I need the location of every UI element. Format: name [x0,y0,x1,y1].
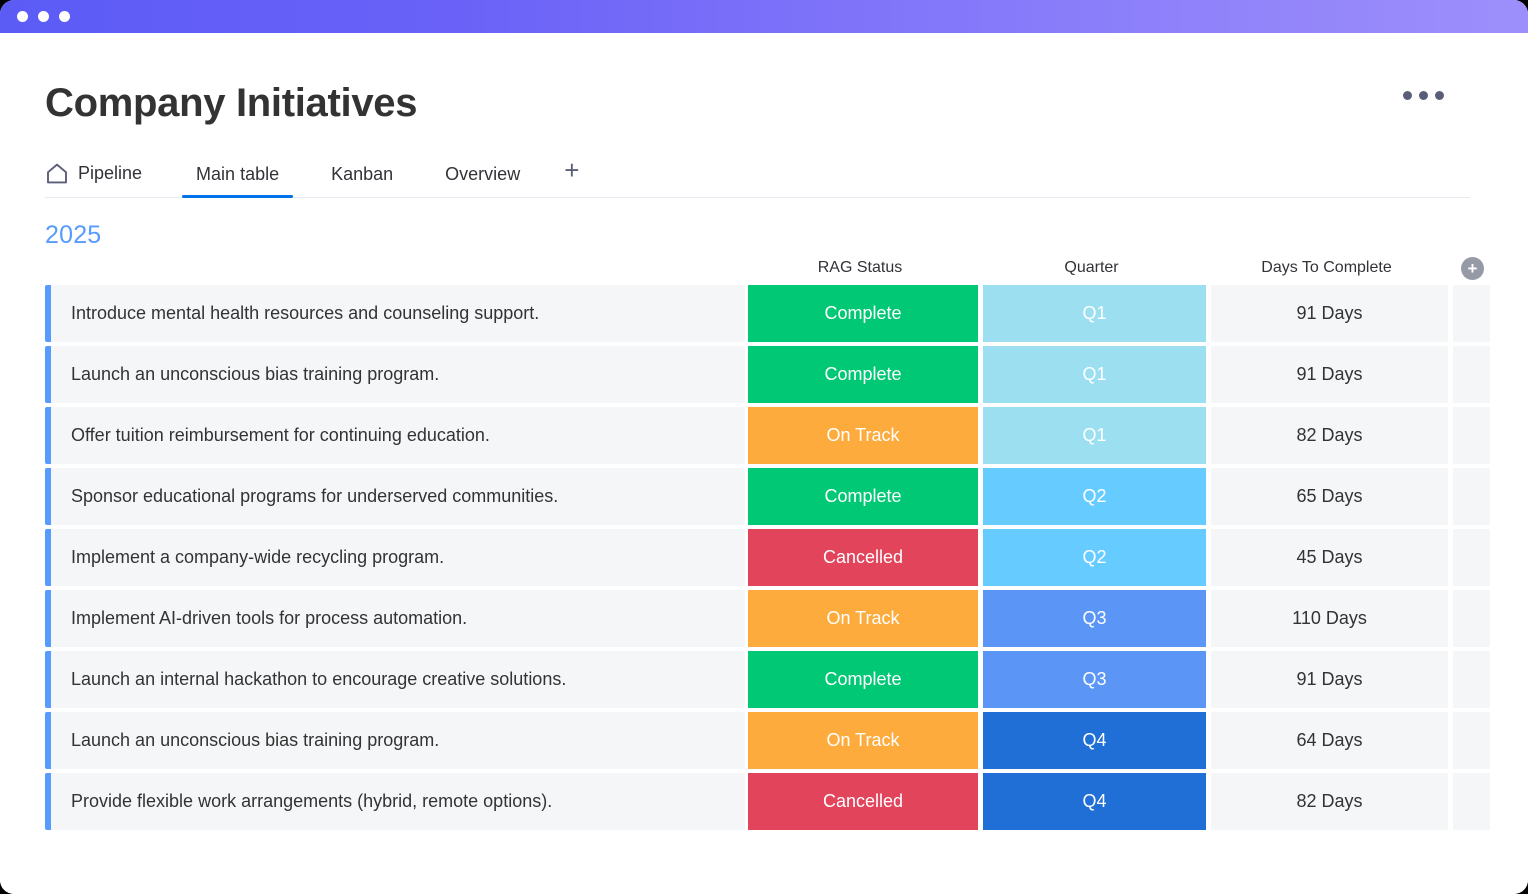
tab-main-table[interactable]: Main table [182,164,293,197]
cell-empty[interactable] [1453,651,1490,708]
cell-empty[interactable] [1453,285,1490,342]
cell-days-to-complete[interactable]: 91 Days [1211,285,1448,342]
cell-empty[interactable] [1453,468,1490,525]
kebab-dot [1419,91,1428,100]
cell-rag-status[interactable]: On Track [748,712,978,769]
cell-days-to-complete[interactable]: 91 Days [1211,651,1448,708]
cell-days-to-complete[interactable]: 82 Days [1211,773,1448,830]
plus-circle-icon[interactable]: + [1461,257,1484,280]
cell-rag-status[interactable]: Cancelled [748,773,978,830]
tab-kanban[interactable]: Kanban [317,164,407,197]
tab-kanban-label: Kanban [331,164,393,185]
page-body: Company Initiatives Pipeline Main table [0,33,1528,894]
column-header-days-to-complete[interactable]: Days To Complete [1208,259,1445,277]
window-titlebar [0,0,1528,33]
add-column-cell: + [1450,257,1495,280]
cell-item-name[interactable]: Provide flexible work arrangements (hybr… [51,773,745,830]
tab-main-table-label: Main table [196,164,279,185]
cell-empty[interactable] [1453,773,1490,830]
table-row[interactable]: Implement AI-driven tools for process au… [45,590,1485,647]
kebab-dot [1403,91,1412,100]
table-row[interactable]: Provide flexible work arrangements (hybr… [45,773,1485,830]
cell-item-name[interactable]: Introduce mental health resources and co… [51,285,745,342]
table-row[interactable]: Launch an unconscious bias training prog… [45,712,1485,769]
window-minimize-dot[interactable] [38,11,49,22]
cell-quarter[interactable]: Q2 [983,529,1206,586]
kebab-dot [1435,91,1444,100]
cell-item-name[interactable]: Offer tuition reimbursement for continui… [51,407,745,464]
cell-quarter[interactable]: Q2 [983,468,1206,525]
add-tab-button[interactable]: + [534,157,595,197]
table-rows: Introduce mental health resources and co… [45,285,1485,830]
cell-rag-status[interactable]: Complete [748,346,978,403]
home-icon [45,162,69,185]
column-header-rag-status[interactable]: RAG Status [745,259,975,277]
group-label[interactable]: 2025 [45,221,1483,250]
cell-item-name[interactable]: Sponsor educational programs for underse… [51,468,745,525]
cell-quarter[interactable]: Q1 [983,346,1206,403]
cell-days-to-complete[interactable]: 82 Days [1211,407,1448,464]
cell-empty[interactable] [1453,346,1490,403]
table-row[interactable]: Launch an internal hackathon to encourag… [45,651,1485,708]
cell-quarter[interactable]: Q4 [983,773,1206,830]
cell-item-name[interactable]: Implement AI-driven tools for process au… [51,590,745,647]
cell-item-name[interactable]: Launch an internal hackathon to encourag… [51,651,745,708]
cell-rag-status[interactable]: Cancelled [748,529,978,586]
cell-rag-status[interactable]: Complete [748,468,978,525]
cell-quarter[interactable]: Q3 [983,590,1206,647]
cell-empty[interactable] [1453,529,1490,586]
table-row[interactable]: Implement a company-wide recycling progr… [45,529,1485,586]
cell-quarter[interactable]: Q1 [983,285,1206,342]
column-header-quarter[interactable]: Quarter [980,259,1203,277]
tab-pipeline-label: Pipeline [78,163,142,184]
cell-empty[interactable] [1453,407,1490,464]
page-title: Company Initiatives [45,81,417,125]
tab-pipeline[interactable]: Pipeline [45,162,156,197]
cell-empty[interactable] [1453,590,1490,647]
cell-rag-status[interactable]: Complete [748,285,978,342]
app-window: Company Initiatives Pipeline Main table [0,0,1528,894]
window-maximize-dot[interactable] [59,11,70,22]
board-table: RAG Status Quarter Days To Complete + In… [45,254,1485,830]
cell-days-to-complete[interactable]: 91 Days [1211,346,1448,403]
cell-quarter[interactable]: Q1 [983,407,1206,464]
table-row[interactable]: Sponsor educational programs for underse… [45,468,1485,525]
table-row[interactable]: Offer tuition reimbursement for continui… [45,407,1485,464]
cell-quarter[interactable]: Q3 [983,651,1206,708]
cell-item-name[interactable]: Launch an unconscious bias training prog… [51,712,745,769]
cell-days-to-complete[interactable]: 65 Days [1211,468,1448,525]
cell-item-name[interactable]: Implement a company-wide recycling progr… [51,529,745,586]
kebab-menu-icon[interactable] [1403,81,1444,100]
page-header: Company Initiatives [45,33,1483,125]
cell-days-to-complete[interactable]: 45 Days [1211,529,1448,586]
cell-rag-status[interactable]: Complete [748,651,978,708]
cell-empty[interactable] [1453,712,1490,769]
cell-days-to-complete[interactable]: 110 Days [1211,590,1448,647]
cell-rag-status[interactable]: On Track [748,407,978,464]
cell-quarter[interactable]: Q4 [983,712,1206,769]
tab-overview-label: Overview [445,164,520,185]
cell-rag-status[interactable]: On Track [748,590,978,647]
table-row[interactable]: Launch an unconscious bias training prog… [45,346,1485,403]
tab-overview[interactable]: Overview [431,164,534,197]
cell-days-to-complete[interactable]: 64 Days [1211,712,1448,769]
table-row[interactable]: Introduce mental health resources and co… [45,285,1485,342]
cell-item-name[interactable]: Launch an unconscious bias training prog… [51,346,745,403]
table-column-headers: RAG Status Quarter Days To Complete + [45,254,1485,282]
view-tabs: Pipeline Main table Kanban Overview + [45,152,1470,198]
window-close-dot[interactable] [17,11,28,22]
